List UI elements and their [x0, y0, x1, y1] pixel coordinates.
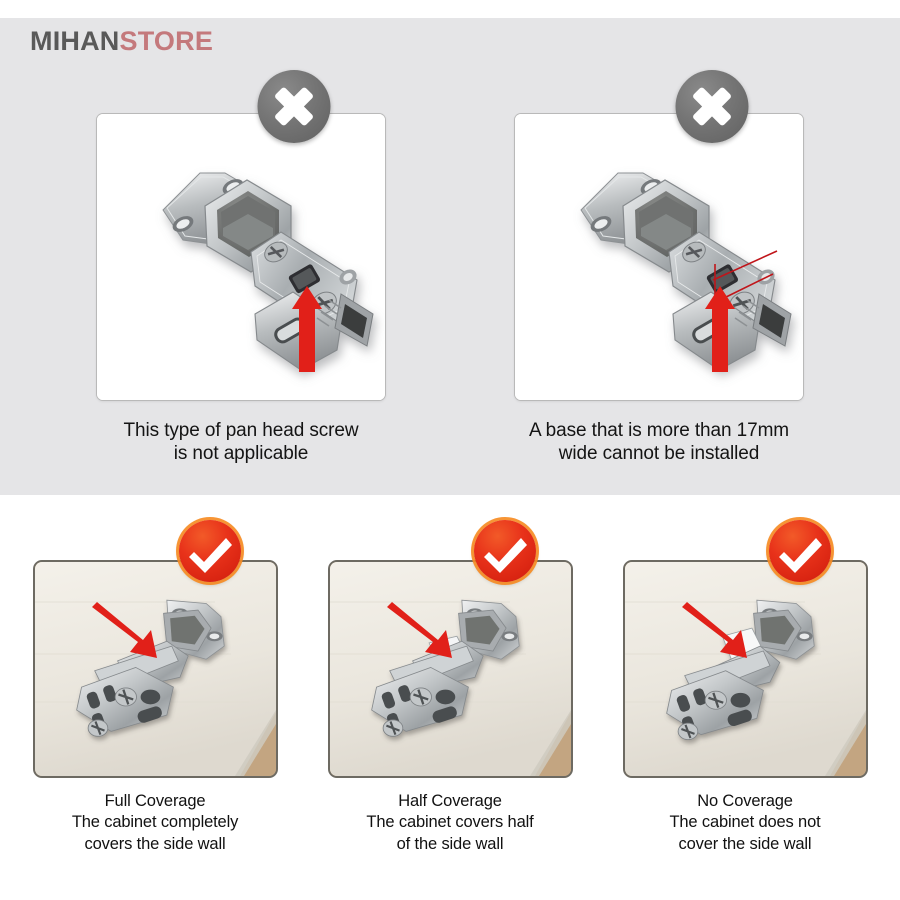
caption-line: of the side wall	[366, 834, 533, 855]
coverage-item-half: Half Coverage The cabinet covers half of…	[328, 560, 573, 855]
caption-line: The cabinet covers half	[366, 812, 533, 833]
caption-title: Half Coverage	[366, 791, 533, 812]
x-mark-badge	[676, 70, 749, 143]
caption-line: is not applicable	[124, 442, 359, 465]
hinge-photo-no-coverage	[623, 560, 868, 778]
brand-logo: MIHANSTORE	[30, 28, 213, 55]
coverage-item-full: Full Coverage The cabinet completely cov…	[33, 560, 278, 855]
hinge-photo-full-coverage	[33, 560, 278, 778]
caption-wide-base: A base that is more than 17mm wide canno…	[529, 419, 789, 465]
check-mark-badge	[474, 520, 536, 582]
coverage-section: Full Coverage The cabinet completely cov…	[0, 495, 900, 900]
caption-line: This type of pan head screw	[124, 419, 359, 442]
caption-line: The cabinet completely	[72, 812, 238, 833]
coverage-cards-row: Full Coverage The cabinet completely cov…	[0, 560, 900, 855]
caption-title: Full Coverage	[72, 791, 238, 812]
hinge-photo-wide-base	[514, 113, 804, 401]
hinge-photo-half-coverage	[328, 560, 573, 778]
hinge-photo-pan-head	[96, 113, 386, 401]
caption-pan-head: This type of pan head screw is not appli…	[124, 419, 359, 465]
coverage-item-none: No Coverage The cabinet does not cover t…	[623, 560, 868, 855]
check-mark-badge	[179, 520, 241, 582]
caption-line: covers the side wall	[72, 834, 238, 855]
warning-cards-row: This type of pan head screw is not appli…	[0, 113, 900, 465]
warning-item-wide-base: A base that is more than 17mm wide canno…	[514, 113, 804, 465]
caption-full-coverage: Full Coverage The cabinet completely cov…	[72, 791, 238, 855]
caption-title: No Coverage	[669, 791, 820, 812]
x-mark-badge	[258, 70, 331, 143]
top-warning-section: MIHANSTORE	[0, 18, 900, 495]
caption-line: The cabinet does not	[669, 812, 820, 833]
caption-line: wide cannot be installed	[529, 442, 789, 465]
caption-line: cover the side wall	[669, 834, 820, 855]
caption-line: A base that is more than 17mm	[529, 419, 789, 442]
caption-half-coverage: Half Coverage The cabinet covers half of…	[366, 791, 533, 855]
caption-no-coverage: No Coverage The cabinet does not cover t…	[669, 791, 820, 855]
brand-text-primary: MIHAN	[30, 26, 120, 56]
brand-text-accent: STORE	[120, 26, 214, 56]
warning-item-pan-head-screw: This type of pan head screw is not appli…	[96, 113, 386, 465]
check-mark-badge	[769, 520, 831, 582]
